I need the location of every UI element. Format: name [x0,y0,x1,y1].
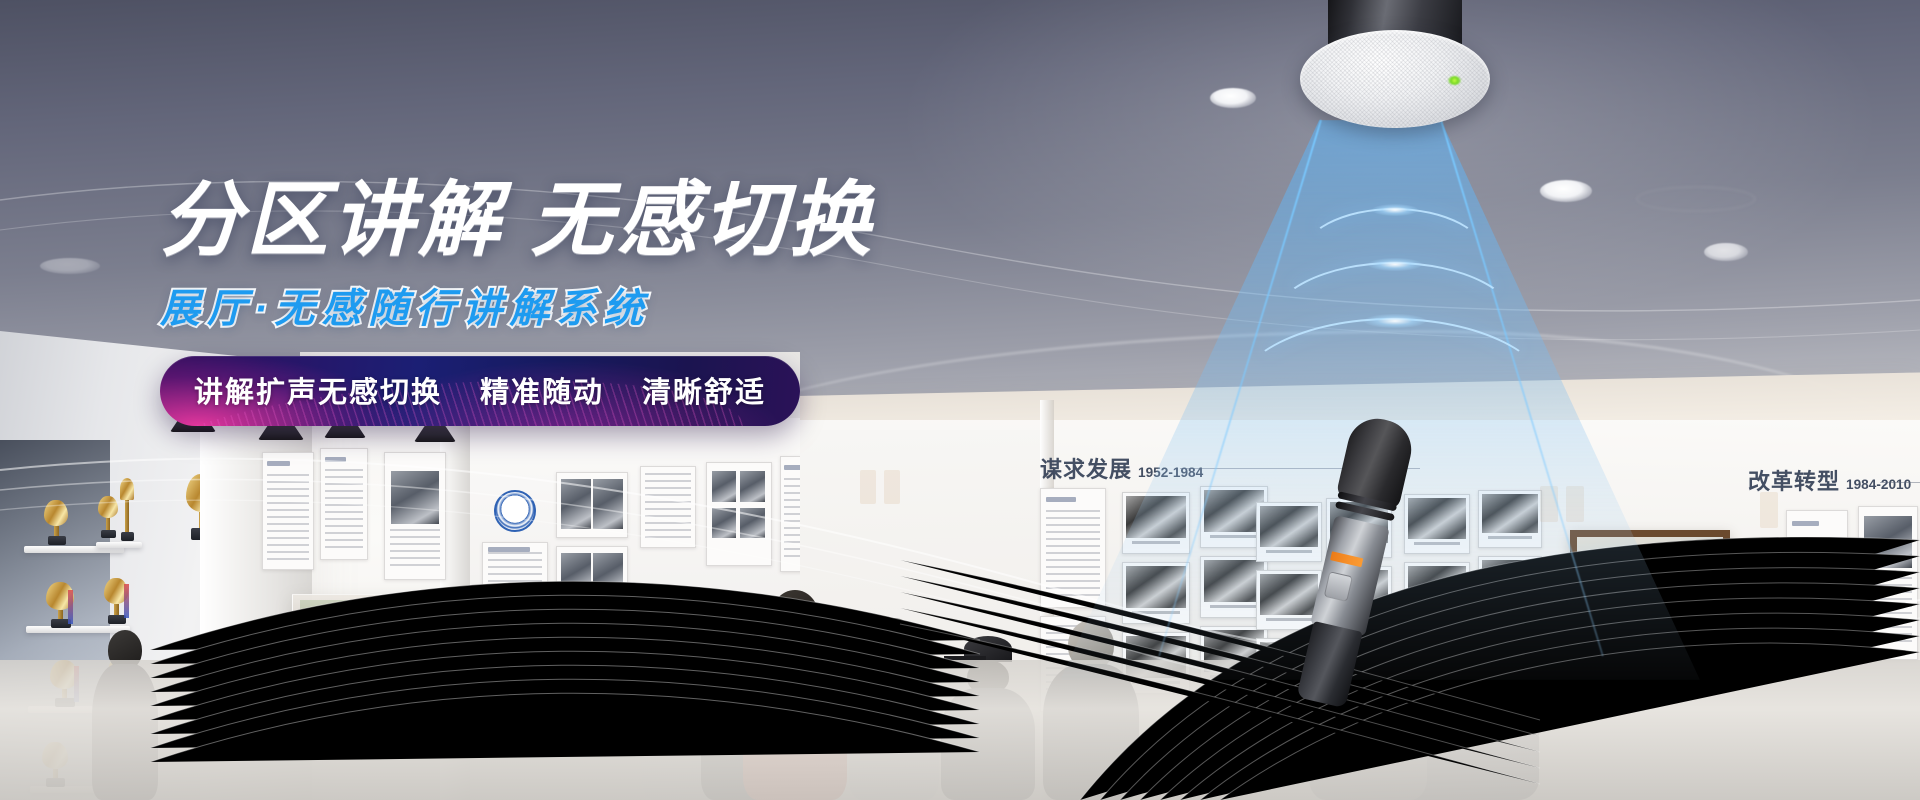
exhibit-panel [1786,510,1848,660]
exhibit-panel [556,546,628,606]
mic-tail [1296,621,1362,708]
feature-item-1: 讲解扩声无感切换 [194,369,442,411]
trophy [120,478,136,544]
downlight [1210,88,1256,108]
feature-item-2: 精准随动 [480,369,604,411]
banner-headline: 分区讲解 无感切换 [160,180,1060,262]
ceiling-speaker [1300,0,1490,138]
sound-wave-highlight [1372,204,1418,216]
banner-text-block: 分区讲解 无感切换 展厅·无感随行讲解系统 讲解扩声无感切换 精准随动 清晰舒适 [160,180,1060,426]
exhibit-panel [1040,488,1106,608]
exhibit-panel [320,448,368,560]
exhibit-panel [482,542,548,596]
feature-pill: 讲解扩声无感切换 精准随动 清晰舒适 [160,356,800,426]
display-case-interior [300,600,550,626]
exhibit-panel [1858,506,1918,660]
exhibit-panel [706,462,772,566]
exhibit-panel [556,472,628,538]
trophy [44,500,70,546]
downlight [1704,243,1748,261]
exhibit-panel [384,452,446,580]
speaker-led-indicator [1448,76,1461,85]
banner-subheadline: 展厅·无感随行讲解系统 [160,276,1060,334]
ceiling-vent-ring [1636,186,1756,212]
trophy [104,578,130,626]
school-emblem [494,490,536,532]
exhibit-panel [640,466,696,548]
speaker-grille [1300,30,1490,128]
sound-wave-highlight [1364,314,1426,328]
wall-section-rule-2 [1880,482,1920,483]
feature-item-3: 清晰舒适 [642,369,766,411]
trophy [98,496,120,542]
wall-section-title-2: 改革转型1984-2010 [1748,464,1911,496]
floor [0,660,1920,800]
downlight [1540,180,1592,202]
sound-wave-highlight [1368,258,1422,271]
trophy [46,582,76,628]
promo-banner: 谋求发展1952-1984 改革转型1984-2010 [0,0,1920,800]
downlight [40,258,100,274]
exhibit-panel [262,452,314,570]
